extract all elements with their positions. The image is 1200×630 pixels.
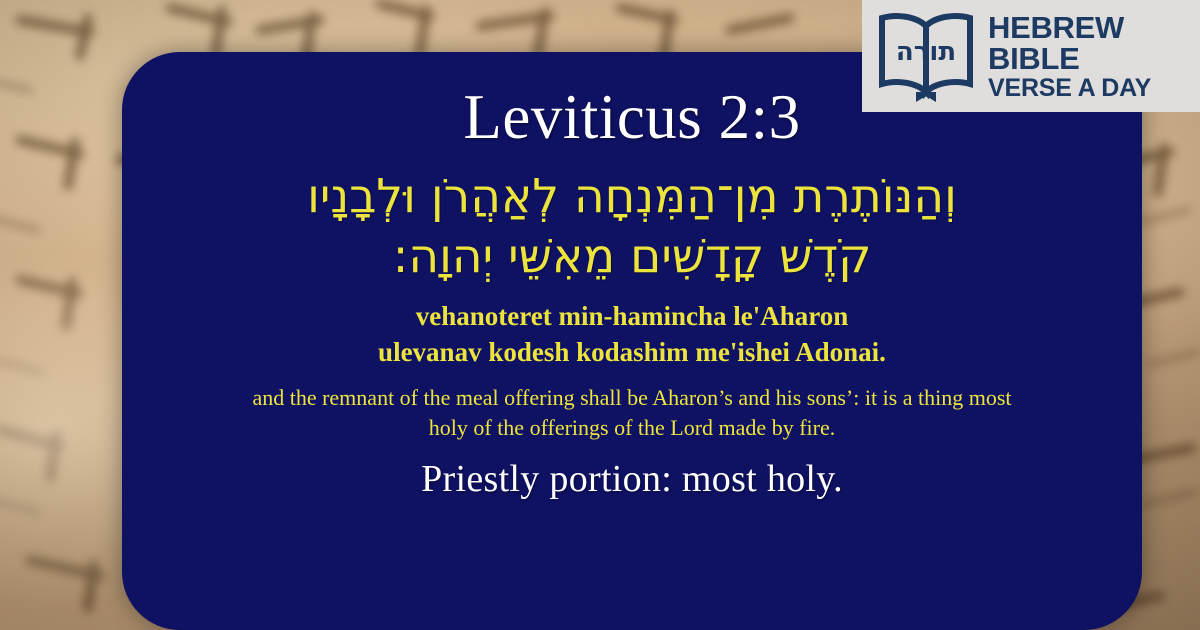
hebrew-verse-line: קֹדֶשׁ קָדָשִׁים מֵאִשֵּׁי יְהוָה: (162, 227, 1102, 287)
open-book-icon: תורה (872, 8, 980, 104)
transliteration-line: vehanoteret min-hamincha le'Aharon (162, 299, 1102, 335)
transliteration-line: ulevanav kodesh kodashim me'ishei Adonai… (162, 335, 1102, 371)
verse-tagline: Priestly portion: most holy. (162, 459, 1102, 501)
english-translation: and the remnant of the meal offering sha… (162, 383, 1102, 442)
brand-line-1: HEBREW (988, 12, 1151, 43)
hebrew-verse-line: וְהַנּוֹתֶרֶת מִן־הַמִּנְחָה לְאַהֲרֹן ו… (162, 167, 1102, 227)
brand-logo[interactable]: תורה HEBREW BIBLE VERSE A DAY (862, 0, 1200, 112)
verse-card: Leviticus 2:3 וְהַנּוֹתֶרֶת מִן־הַמִּנְח… (122, 52, 1142, 630)
brand-line-3: VERSE A DAY (988, 76, 1151, 101)
brand-line-2: BIBLE (988, 43, 1151, 74)
verse-image-canvas: Leviticus 2:3 וְהַנּוֹתֶרֶת מִן־הַמִּנְח… (0, 0, 1200, 630)
transliteration-text: vehanoteret min-hamincha le'Aharon uleva… (162, 299, 1102, 371)
hebrew-verse-text: וְהַנּוֹתֶרֶת מִן־הַמִּנְחָה לְאַהֲרֹן ו… (162, 167, 1102, 287)
brand-wordmark: HEBREW BIBLE VERSE A DAY (988, 12, 1151, 101)
book-hebrew-label: תורה (896, 37, 956, 67)
